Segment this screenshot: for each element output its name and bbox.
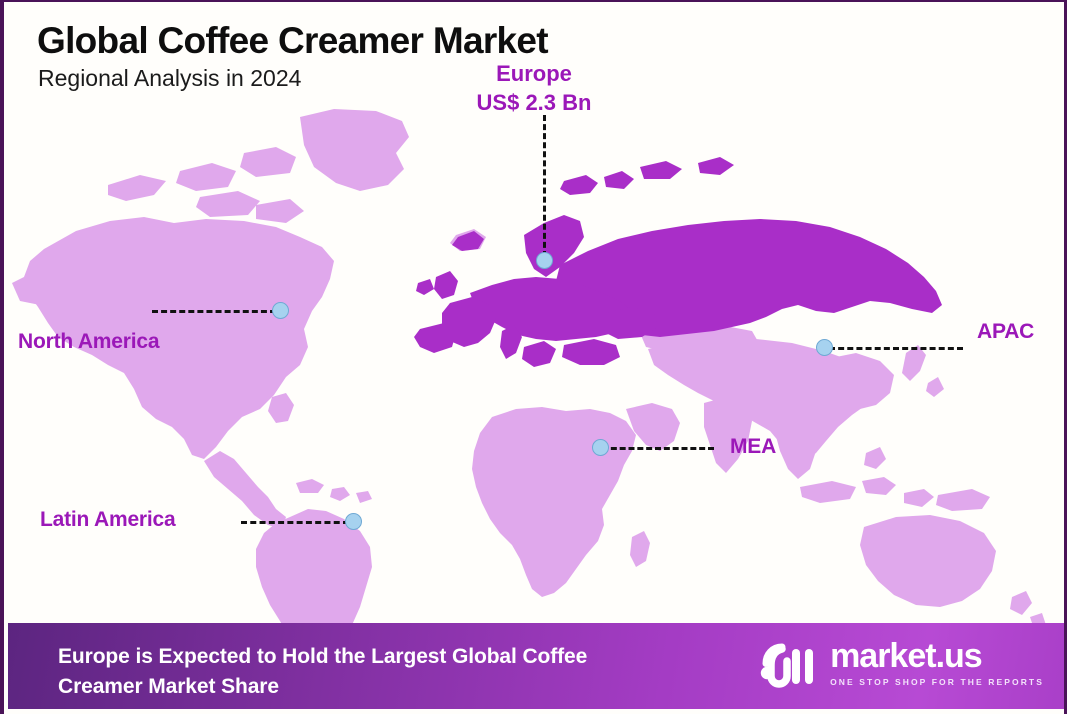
infographic-root: Global Coffee Creamer Market Regional An… bbox=[0, 0, 1067, 714]
banner-headline-line1: Europe is Expected to Hold the Largest G… bbox=[58, 642, 587, 672]
marker-dot-apac[interactable] bbox=[816, 339, 833, 356]
market-us-logo[interactable]: market.us ONE STOP SHOP FOR THE REPORTS bbox=[760, 637, 1044, 689]
page-title: Global Coffee Creamer Market bbox=[37, 20, 548, 62]
banner-headline-line2: Creamer Market Share bbox=[58, 672, 587, 702]
banner-headline: Europe is Expected to Hold the Largest G… bbox=[58, 642, 587, 702]
marker-dot-mea[interactable] bbox=[592, 439, 609, 456]
region-label-europe-name: Europe bbox=[4, 59, 1064, 88]
region-label-north-america: North America bbox=[18, 330, 159, 354]
connector-mea bbox=[602, 447, 714, 450]
connector-apac bbox=[829, 347, 963, 350]
logo-name: market.us bbox=[830, 639, 982, 673]
connector-north-america bbox=[152, 310, 276, 313]
region-label-apac: APAC bbox=[977, 320, 1034, 344]
region-label-mea: MEA bbox=[730, 435, 776, 459]
world-map-svg bbox=[4, 97, 1064, 627]
region-label-europe-value: US$ 2.3 Bn bbox=[4, 88, 1064, 117]
logo-mark-icon bbox=[760, 637, 820, 689]
marker-dot-north-america[interactable] bbox=[272, 302, 289, 319]
region-label-latin-america: Latin America bbox=[40, 508, 176, 532]
region-label-europe: Europe US$ 2.3 Bn bbox=[4, 59, 1064, 117]
bottom-banner: Europe is Expected to Hold the Largest G… bbox=[8, 623, 1067, 709]
connector-europe bbox=[543, 115, 546, 257]
logo-tagline: ONE STOP SHOP FOR THE REPORTS bbox=[830, 677, 1044, 687]
connector-latin-america bbox=[241, 521, 349, 524]
marker-dot-latin-america[interactable] bbox=[345, 513, 362, 530]
world-map bbox=[4, 97, 1064, 627]
map-landmasses-base bbox=[12, 109, 1046, 627]
marker-dot-europe[interactable] bbox=[536, 252, 553, 269]
logo-wordmark: market.us ONE STOP SHOP FOR THE REPORTS bbox=[830, 639, 1044, 687]
